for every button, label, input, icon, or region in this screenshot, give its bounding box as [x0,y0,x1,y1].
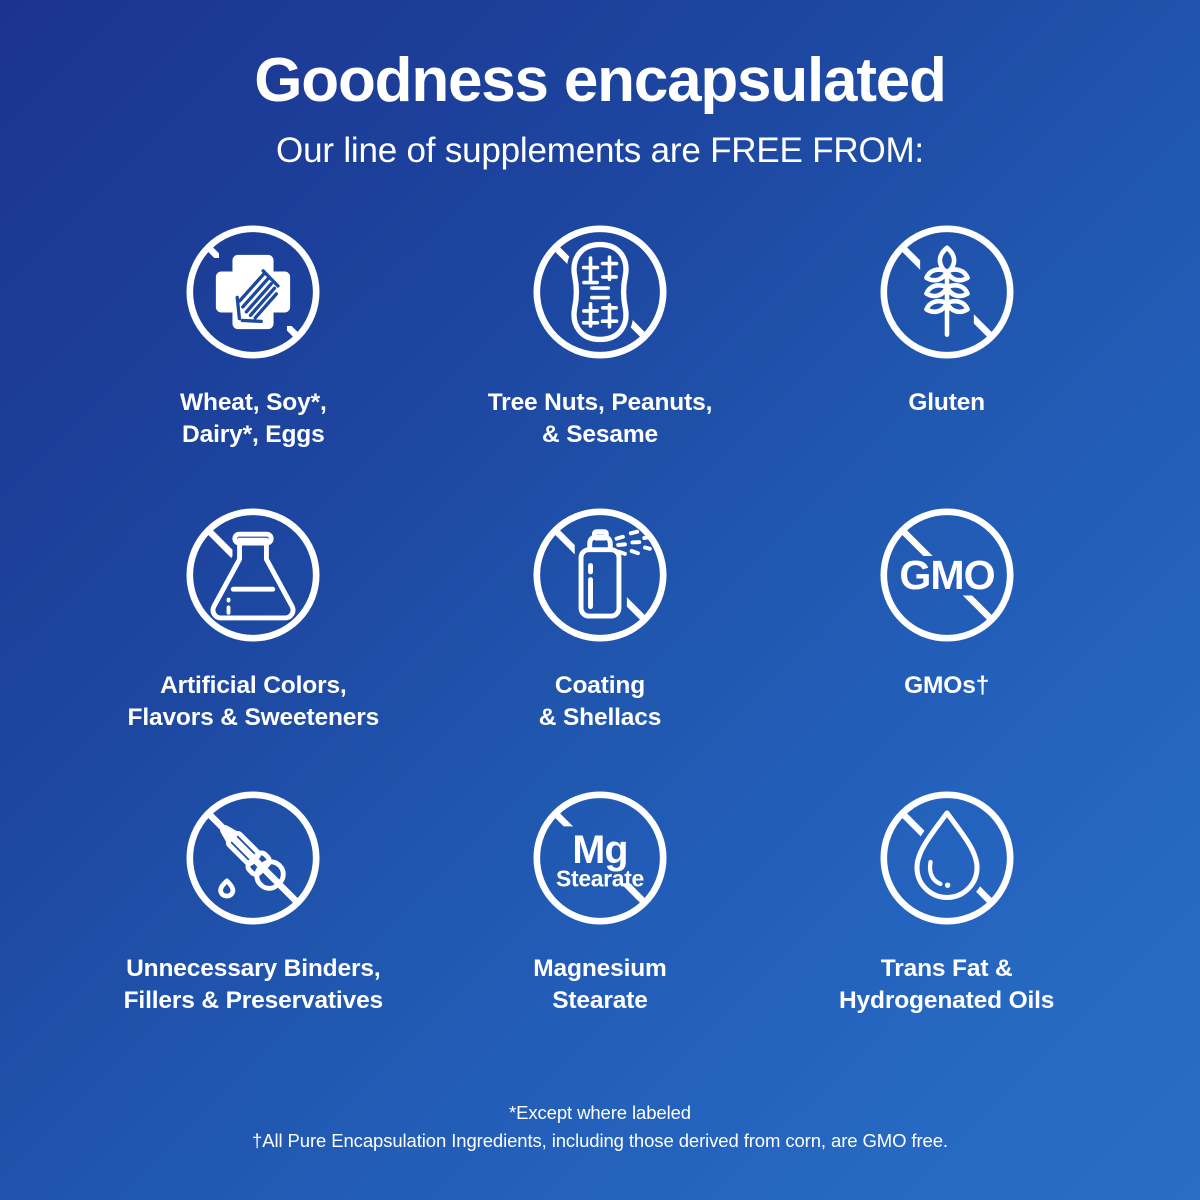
grid-item-label: Artificial Colors, Flavors & Sweeteners [128,670,380,733]
no-dropper-icon [174,779,332,937]
page-title: Goodness encapsulated [0,48,1200,115]
no-spray-can-icon [521,496,679,654]
grid-item-label: Gluten [908,387,985,418]
free-from-grid: Wheat, Soy*, Dairy*, Eggs [80,213,1120,1062]
stearate-text: Stearate [556,866,644,892]
grid-item-gluten: Gluten [773,213,1120,496]
grid-item-artificial: Artificial Colors, Flavors & Sweeteners [80,496,427,779]
grid-item-nuts: Tree Nuts, Peanuts, & Sesame [427,213,774,496]
grid-item-label: Coating & Shellacs [539,670,661,733]
header: Goodness encapsulated Our line of supple… [0,0,1200,171]
no-oil-droplet-icon [868,779,1026,937]
no-gluten-wheat-stalk-icon [868,213,1026,371]
grid-item-label: Trans Fat & Hydrogenated Oils [839,953,1054,1016]
grid-item-coating: Coating & Shellacs [427,496,774,779]
grid-item-label: Tree Nuts, Peanuts, & Sesame [488,387,713,450]
no-magnesium-stearate-icon: Mg Stearate [521,779,679,937]
no-gmo-icon: GMO [868,496,1026,654]
footnotes: *Except where labeled †All Pure Encapsul… [0,1099,1200,1156]
grid-item-trans-fat: Trans Fat & Hydrogenated Oils [773,779,1120,1062]
grid-item-binders: Unnecessary Binders, Fillers & Preservat… [80,779,427,1062]
poster: Goodness encapsulated Our line of supple… [0,0,1200,1200]
grid-item-magnesium-stearate: Mg Stearate Magnesium Stearate [427,779,774,1062]
grid-item-label: Wheat, Soy*, Dairy*, Eggs [180,387,327,450]
page-subtitle: Our line of supplements are FREE FROM: [0,131,1200,171]
footnote-asterisk: *Except where labeled [0,1099,1200,1128]
grid-item-gmo: GMO GMOs† [773,496,1120,779]
no-flask-icon [174,496,332,654]
grid-item-label: Unnecessary Binders, Fillers & Preservat… [124,953,383,1016]
no-peanut-icon [521,213,679,371]
grid-item-label: Magnesium Stearate [533,953,666,1016]
no-wheat-soy-dairy-eggs-cross-icon [174,213,332,371]
gmo-icon-text: GMO [899,552,994,598]
grid-item-allergens: Wheat, Soy*, Dairy*, Eggs [80,213,427,496]
footnote-dagger: †All Pure Encapsulation Ingredients, inc… [0,1127,1200,1156]
grid-item-label: GMOs† [904,670,989,701]
